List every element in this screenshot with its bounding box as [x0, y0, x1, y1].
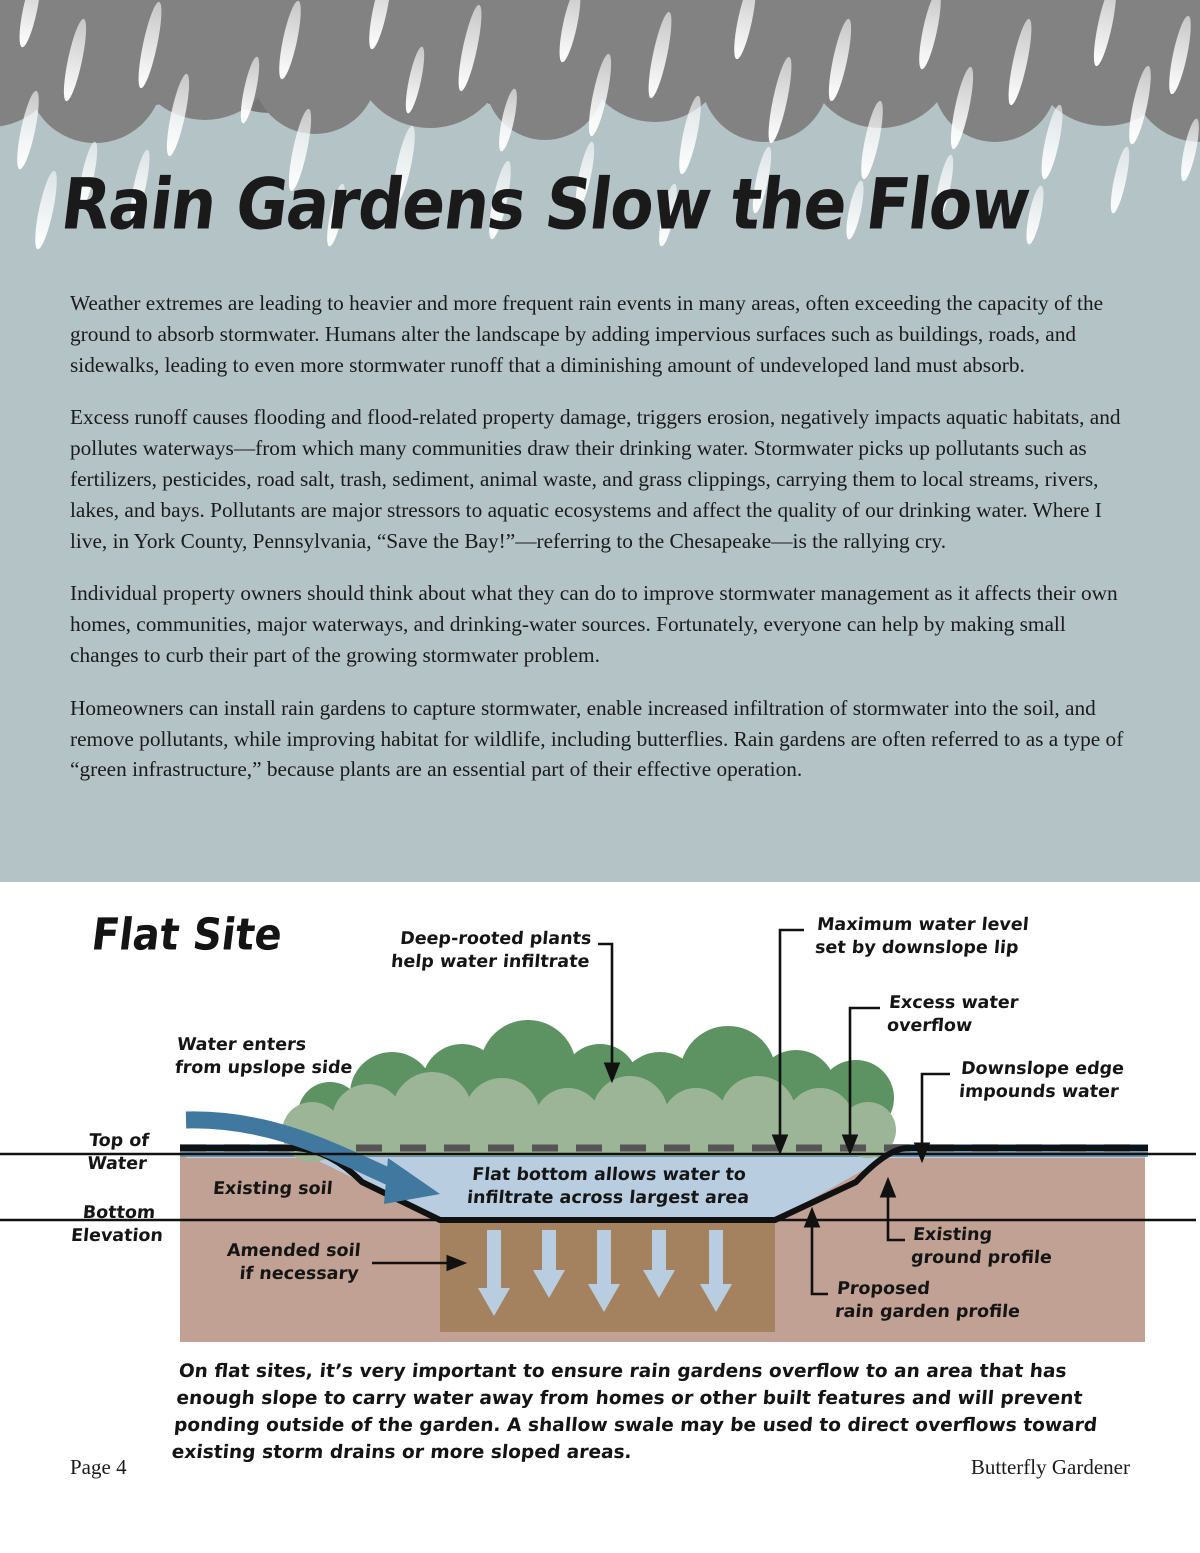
diagram-title: Flat Site — [89, 910, 285, 961]
header-panel: Rain Gardens Slow the Flow Weather extre… — [0, 0, 1200, 882]
annotation-top-of-water: Top of Water — [58, 1130, 178, 1176]
paragraph: Excess runoff causes flooding and flood-… — [70, 402, 1138, 556]
annotation-bottom-elevation: Bottom Elevation — [52, 1202, 184, 1248]
page-number: Page 4 — [70, 1455, 127, 1480]
annotation-maximum-water-level: Maximum water level set by downslope lip — [814, 914, 1030, 960]
page-footer: Page 4 Butterfly Gardener — [0, 1455, 1200, 1505]
annotation-deep-rooted-plants: Deep-rooted plants help water infiltrate — [390, 928, 592, 974]
article-body: Weather extremes are leading to heavier … — [70, 288, 1138, 807]
paragraph: Homeowners can install rain gardens to c… — [70, 693, 1138, 785]
annotation-flat-bottom: Flat bottom allows water to infiltrate a… — [466, 1164, 750, 1210]
annotation-water-enters: Water enters from upslope side — [174, 1034, 355, 1080]
rain-scene — [0, 0, 1200, 300]
paragraph: Individual property owners should think … — [70, 578, 1138, 670]
diagram-caption: On flat sites, it’s very important to en… — [171, 1358, 1140, 1466]
annotation-proposed-rain-garden-profile: Proposed rain garden profile — [834, 1278, 1023, 1324]
annotation-existing-ground-profile: Existing ground profile — [910, 1224, 1055, 1270]
annotation-existing-soil: Existing soil — [212, 1178, 334, 1201]
page-title: Rain Gardens Slow the Flow — [57, 164, 1067, 246]
annotation-downslope-edge: Downslope edge impounds water — [958, 1058, 1125, 1104]
annotation-excess-water-overflow: Excess water overflow — [886, 992, 1019, 1038]
publication-name: Butterfly Gardener — [971, 1455, 1130, 1480]
paragraph: Weather extremes are leading to heavier … — [70, 288, 1138, 380]
annotation-amended-soil: Amended soil if necessary — [224, 1240, 362, 1286]
